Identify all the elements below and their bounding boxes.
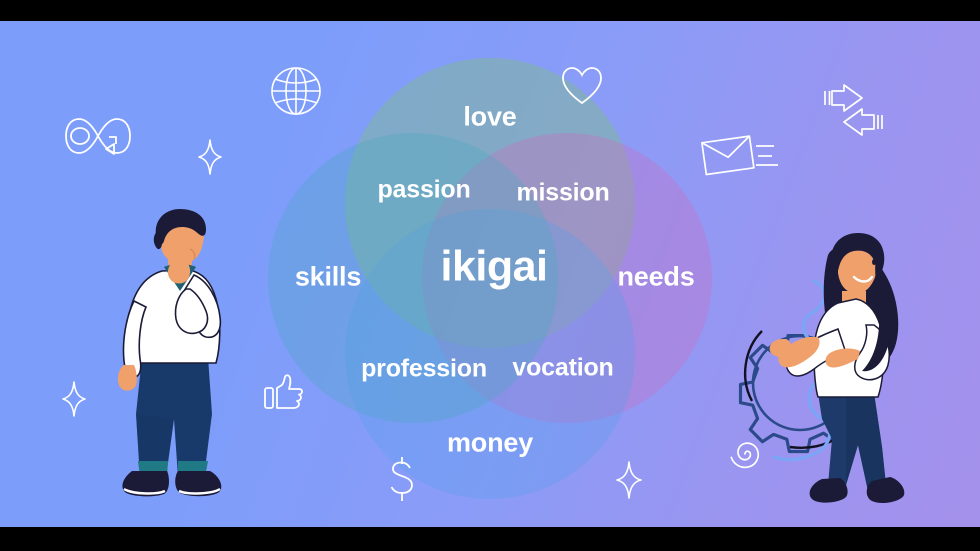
venn-label-vocation: vocation <box>512 354 613 383</box>
woman-with-gear-illustration <box>726 233 926 527</box>
ikigai-venn-diagram: love needs money skills passion mission … <box>248 37 732 521</box>
venn-label-needs: needs <box>617 262 694 293</box>
ikigai-slide: love needs money skills passion mission … <box>0 21 980 527</box>
man-thinking-illustration <box>112 209 252 514</box>
sparkle-icon-1 <box>198 139 222 175</box>
infinity-arrow-icon <box>62 113 134 159</box>
letterbox-bar-bottom <box>0 527 980 551</box>
venn-label-passion: passion <box>377 176 470 205</box>
slide-canvas: love needs money skills passion mission … <box>0 0 980 551</box>
venn-label-love: love <box>463 102 516 133</box>
venn-label-skills: skills <box>295 262 361 293</box>
venn-label-mission: mission <box>516 179 609 208</box>
exchange-arrows-icon <box>818 83 888 143</box>
venn-label-profession: profession <box>361 355 487 384</box>
letterbox-bar-top <box>0 0 980 21</box>
venn-label-ikigai: ikigai <box>441 243 548 292</box>
venn-label-money: money <box>447 428 533 459</box>
sparkle-icon-2 <box>62 381 86 417</box>
